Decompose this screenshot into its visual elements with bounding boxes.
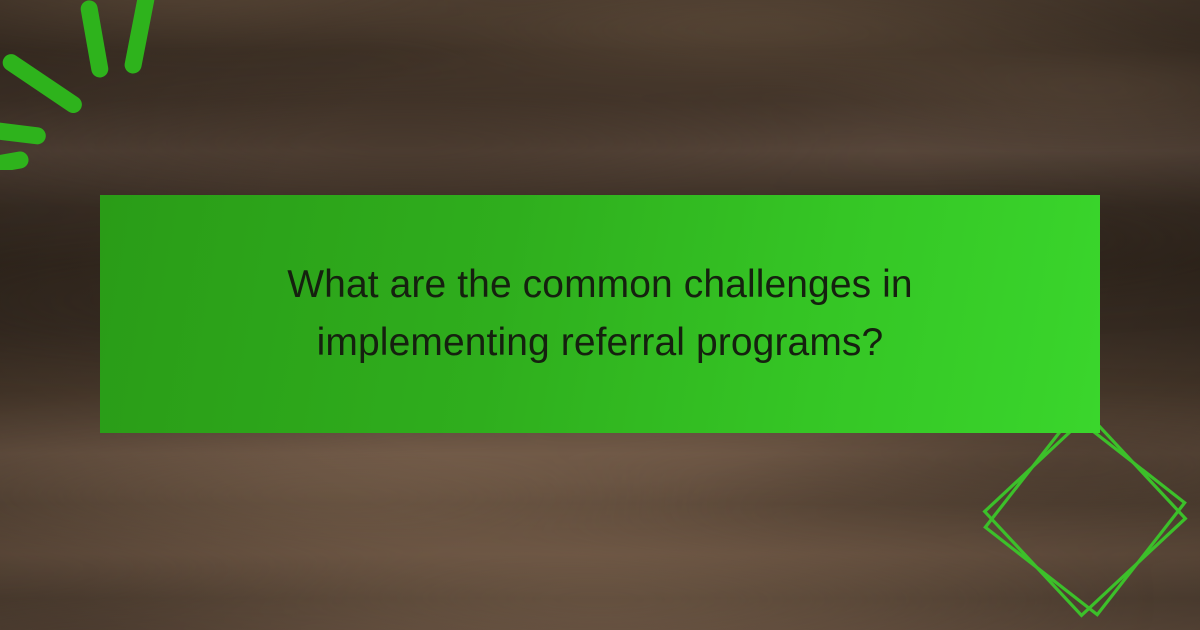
quote-card: What are the common challenges in implem… [0, 0, 1200, 630]
sparkle-burst-icon [0, 0, 200, 170]
rotated-square-outlines-icon [970, 400, 1200, 630]
headline-text: What are the common challenges in implem… [280, 256, 920, 372]
headline-banner: What are the common challenges in implem… [100, 195, 1100, 433]
